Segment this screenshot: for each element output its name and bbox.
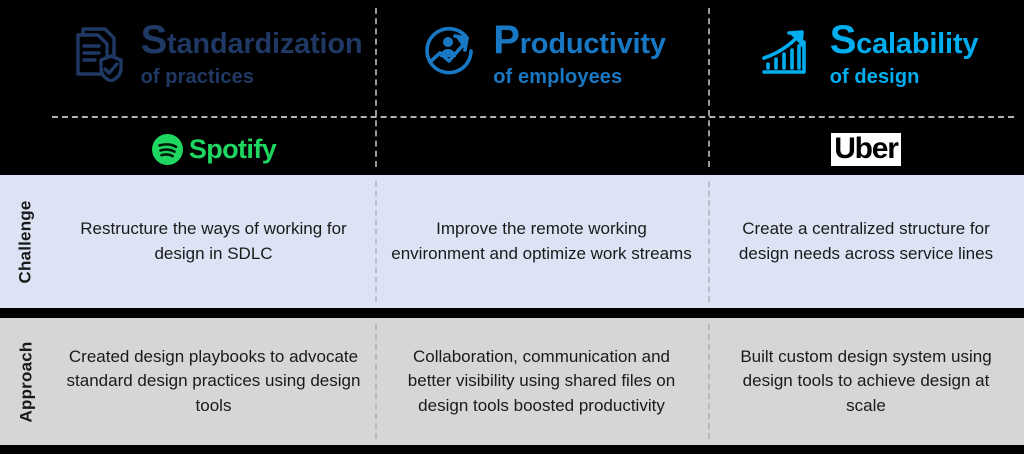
row-label-approach-text: Approach: [16, 341, 36, 422]
header-main-productivity: Productivity: [493, 20, 666, 60]
row-challenge: Restructure the ways of working for desi…: [52, 175, 1024, 308]
cell-challenge-scalability: Create a centralized structure for desig…: [708, 175, 1024, 308]
header-column-standardization: Standardization of practices: [52, 0, 375, 107]
logo-strip: Spotify Uber: [52, 124, 1024, 175]
uber-logo: Uber: [831, 133, 901, 165]
logo-cell-standardization: Spotify: [52, 124, 375, 175]
header-title-productivity: Productivity of employees: [493, 20, 666, 87]
header-cap-p: P: [493, 18, 519, 62]
header-main-standardization: Standardization: [141, 20, 363, 60]
cell-challenge-productivity: Improve the remote working environment a…: [375, 175, 708, 308]
cell-divider-challenge-1: [375, 181, 377, 302]
cell-approach-standardization: Created design playbooks to advocate sta…: [52, 318, 375, 445]
spotify-logo: Spotify: [151, 133, 276, 166]
header-title-scalability: Scalability of design: [830, 20, 979, 87]
cell-divider-approach-2: [708, 324, 710, 439]
rising-bar-chart-arrow-icon: [754, 20, 816, 87]
header-dashed-divider: [52, 116, 1014, 118]
logo-cell-scalability: Uber: [708, 124, 1024, 175]
cell-divider-approach-1: [375, 324, 377, 439]
header-sub-scalability: of design: [830, 67, 979, 87]
header-main-scalability: Scalability: [830, 20, 979, 60]
header-band: Standardization of practices: [52, 0, 1024, 175]
header-title-standardization: Standardization of practices: [141, 20, 363, 87]
header-sub-standardization: of practices: [141, 67, 363, 87]
row-label-challenge-text: Challenge: [16, 200, 36, 283]
row-approach: Created design playbooks to advocate sta…: [52, 318, 1024, 445]
header-columns: Standardization of practices: [52, 0, 1024, 107]
cell-challenge-standardization: Restructure the ways of working for desi…: [52, 175, 375, 308]
row-label-challenge: Challenge: [0, 175, 52, 308]
comparison-matrix: Challenge Approach: [0, 0, 1024, 454]
document-checklist-icon: [65, 20, 127, 87]
header-rest-scalability: calability: [856, 28, 978, 60]
spotify-mark-icon: [151, 133, 184, 166]
header-cap-s2: S: [830, 18, 856, 62]
header-column-productivity: Productivity of employees: [375, 0, 708, 107]
header-sub-productivity: of employees: [493, 67, 666, 87]
cell-approach-productivity: Collaboration, communication and better …: [375, 318, 708, 445]
logo-cell-productivity: [375, 124, 708, 175]
row-label-approach: Approach: [0, 318, 52, 445]
header-column-scalability: Scalability of design: [708, 0, 1024, 107]
header-rest-standardization: tandardization: [167, 28, 362, 60]
header-rest-productivity: roductivity: [520, 28, 666, 60]
cell-approach-scalability: Built custom design system using design …: [708, 318, 1024, 445]
header-cap-s: S: [141, 18, 167, 62]
spotify-wordmark: Spotify: [189, 134, 276, 165]
cell-divider-challenge-2: [708, 181, 710, 302]
person-growth-arrow-icon: [417, 20, 479, 87]
